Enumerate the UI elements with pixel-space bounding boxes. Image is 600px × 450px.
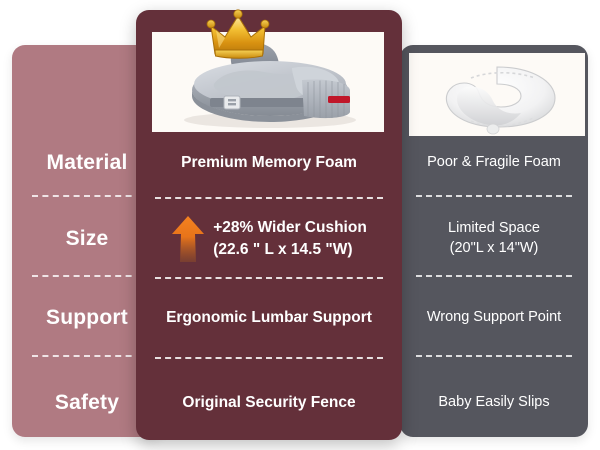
divider-hero-2 xyxy=(155,277,383,279)
rival-size-dimensions: (20"L x 14"W) xyxy=(450,239,539,259)
hero-size-text: +28% Wider Cushion (22.6 " L x 14.5 "W) xyxy=(213,217,367,262)
hero-size-headline: +28% Wider Cushion xyxy=(213,217,367,239)
crown-icon xyxy=(205,8,277,60)
hero-material-value: Premium Memory Foam xyxy=(140,140,398,186)
rival-size-value: Limited Space (20"L x 14"W) xyxy=(402,212,586,266)
competitor-product-photo xyxy=(409,53,585,136)
divider-rival-3 xyxy=(416,355,572,357)
hero-size-value: +28% Wider Cushion (22.6 " L x 14.5 "W) xyxy=(140,208,398,270)
divider-hero-1 xyxy=(155,197,383,199)
product-comparison-chart: Material Premium Memory Foam Poor & Frag… xyxy=(0,0,600,450)
hero-safety-value: Original Security Fence xyxy=(140,380,398,426)
rival-support-value: Wrong Support Point xyxy=(402,295,586,341)
divider-hero-3 xyxy=(155,357,383,359)
up-arrow-icon xyxy=(171,214,205,264)
divider-rival-1 xyxy=(416,195,572,197)
divider-rival-2 xyxy=(416,275,572,277)
rival-material-value: Poor & Fragile Foam xyxy=(402,140,586,186)
divider-labels-1 xyxy=(32,195,142,197)
rival-safety-value: Baby Easily Slips xyxy=(402,380,586,426)
hero-size-dimensions: (22.6 " L x 14.5 "W) xyxy=(213,239,367,261)
divider-labels-2 xyxy=(32,275,142,277)
hero-support-value: Ergonomic Lumbar Support xyxy=(140,295,398,341)
rival-size-headline: Limited Space xyxy=(448,219,540,239)
divider-labels-3 xyxy=(32,355,142,357)
